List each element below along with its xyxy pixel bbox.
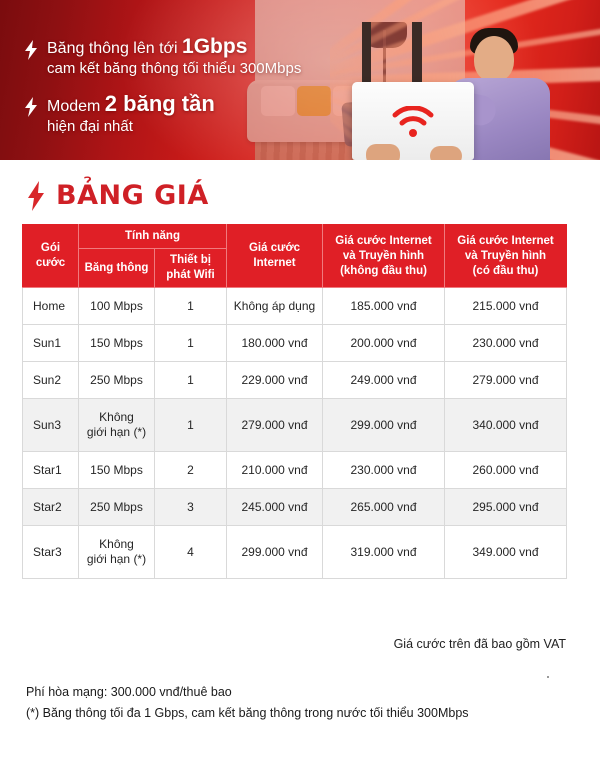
footer-notes: Phí hòa mạng: 300.000 vnđ/thuê bao (*) B… [26,682,469,724]
cell-combo-with-receiver: 215.000 vnđ [445,288,567,325]
cell-bandwidth: Khônggiới hạn (*) [79,399,155,452]
vat-note: Giá cước trên đã bao gồm VAT [394,637,566,651]
banner-bullet-1: Băng thông lên tới 1Gbps cam kết băng th… [24,36,301,79]
table-row: Star2250 Mbps3245.000 vnđ265.000 vnđ295.… [23,489,567,526]
table-row: Star3Khônggiới hạn (*)4299.000 vnđ319.00… [23,526,567,579]
artifact-speck [547,676,549,678]
cell-internet-price: 279.000 vnđ [227,399,323,452]
th-wifi-device: Thiết bị phát Wifi [155,249,227,288]
wifi-icon [392,106,434,138]
cell-combo-no-receiver: 319.000 vnđ [323,526,445,579]
promo-banner: Băng thông lên tới 1Gbps cam kết băng th… [0,0,600,160]
th-combo-with-receiver: Giá cước Internet và Truyền hình (có đầu… [445,225,567,288]
cell-combo-no-receiver: 185.000 vnđ [323,288,445,325]
pricing-table: Gói cước Tính năng Giá cước Internet Giá… [22,224,567,579]
cell-package: Sun2 [23,362,79,399]
cell-combo-with-receiver: 230.000 vnđ [445,325,567,362]
banner-b1-line2: cam kết băng thông tối thiểu 300Mbps [47,59,301,79]
cell-combo-with-receiver: 340.000 vnđ [445,399,567,452]
footer-note-2: (*) Băng thông tối đa 1 Gbps, cam kết bă… [26,703,469,724]
cell-package: Sun1 [23,325,79,362]
th-combo-with-receiver-l2: và Truyền hình [447,249,564,264]
th-combo-no-receiver-l2: và Truyền hình [325,249,442,264]
table-row: Star1150 Mbps2210.000 vnđ230.000 vnđ260.… [23,452,567,489]
cell-combo-no-receiver: 249.000 vnđ [323,362,445,399]
cell-package: Star3 [23,526,79,579]
th-combo-with-receiver-l3: (có đầu thu) [447,264,564,279]
cell-wifi-device: 1 [155,362,227,399]
th-combo-with-receiver-l1: Giá cước Internet [447,234,564,249]
cell-internet-price: Không áp dụng [227,288,323,325]
page-title: BẢNG GIÁ [56,180,209,211]
person-head [474,36,514,82]
th-combo-no-receiver: Giá cước Internet và Truyền hình (không … [323,225,445,288]
th-internet-price: Giá cước Internet [227,225,323,288]
th-bandwidth: Băng thông [79,249,155,288]
cell-wifi-device: 1 [155,399,227,452]
banner-b1-line1-prefix: Băng thông lên tới [47,40,182,57]
banner-b2-line2: hiện đại nhất [47,117,215,137]
cell-internet-price: 299.000 vnđ [227,526,323,579]
cell-wifi-device: 1 [155,325,227,362]
cell-combo-with-receiver: 295.000 vnđ [445,489,567,526]
cell-package: Sun3 [23,399,79,452]
cell-package: Star2 [23,489,79,526]
cell-wifi-device: 1 [155,288,227,325]
cell-package: Home [23,288,79,325]
cell-wifi-device: 4 [155,526,227,579]
th-wifi-device-l1: Thiết bị [157,253,224,268]
cell-internet-price: 210.000 vnđ [227,452,323,489]
person-hand-right [430,146,462,160]
table-row: Home100 Mbps1Không áp dụng185.000 vnđ215… [23,288,567,325]
cushion [297,86,331,116]
th-internet-price-l1: Giá cước [229,241,320,256]
th-features-group: Tính năng [79,225,227,249]
cell-bandwidth: 250 Mbps [79,362,155,399]
th-package: Gói cước [23,225,79,288]
cell-combo-no-receiver: 230.000 vnđ [323,452,445,489]
cell-bandwidth: 150 Mbps [79,325,155,362]
cell-combo-no-receiver: 299.000 vnđ [323,399,445,452]
cell-internet-price: 245.000 vnđ [227,489,323,526]
section-title: BẢNG GIÁ [26,180,209,211]
person-hand-left [366,144,400,160]
pricing-table-header: Gói cước Tính năng Giá cước Internet Giá… [23,225,567,288]
cell-bandwidth: 150 Mbps [79,452,155,489]
cell-wifi-device: 3 [155,489,227,526]
pricing-table-body: Home100 Mbps1Không áp dụng185.000 vnđ215… [23,288,567,579]
table-row: Sun2250 Mbps1229.000 vnđ249.000 vnđ279.0… [23,362,567,399]
th-wifi-device-l2: phát Wifi [157,268,224,283]
banner-b2-line1-strong: 2 băng tần [105,91,215,116]
cell-internet-price: 229.000 vnđ [227,362,323,399]
cell-combo-with-receiver: 260.000 vnđ [445,452,567,489]
cell-combo-with-receiver: 349.000 vnđ [445,526,567,579]
banner-b2-line1-prefix: Modem [47,98,105,115]
footer-note-1: Phí hòa mạng: 300.000 vnđ/thuê bao [26,682,469,703]
th-combo-no-receiver-l3: (không đầu thu) [325,264,442,279]
lightning-bolt-icon [24,40,38,60]
cell-package: Star1 [23,452,79,489]
table-row: Sun3Khônggiới hạn (*)1279.000 vnđ299.000… [23,399,567,452]
banner-bullet-2: Modem 2 băng tần hiện đại nhất [24,93,301,137]
cell-bandwidth: 100 Mbps [79,288,155,325]
lightning-bolt-icon [24,97,38,117]
cell-internet-price: 180.000 vnđ [227,325,323,362]
cell-wifi-device: 2 [155,452,227,489]
cell-bandwidth: Khônggiới hạn (*) [79,526,155,579]
cell-combo-no-receiver: 265.000 vnđ [323,489,445,526]
banner-bullet-list: Băng thông lên tới 1Gbps cam kết băng th… [24,36,301,151]
banner-b1-line1-strong: 1Gbps [182,35,247,58]
cell-combo-with-receiver: 279.000 vnđ [445,362,567,399]
table-row: Sun1150 Mbps1180.000 vnđ200.000 vnđ230.0… [23,325,567,362]
cell-bandwidth: 250 Mbps [79,489,155,526]
th-internet-price-l2: Internet [229,256,320,271]
th-combo-no-receiver-l1: Giá cước Internet [325,234,442,249]
lightning-bolt-icon [26,181,46,211]
cell-combo-no-receiver: 200.000 vnđ [323,325,445,362]
